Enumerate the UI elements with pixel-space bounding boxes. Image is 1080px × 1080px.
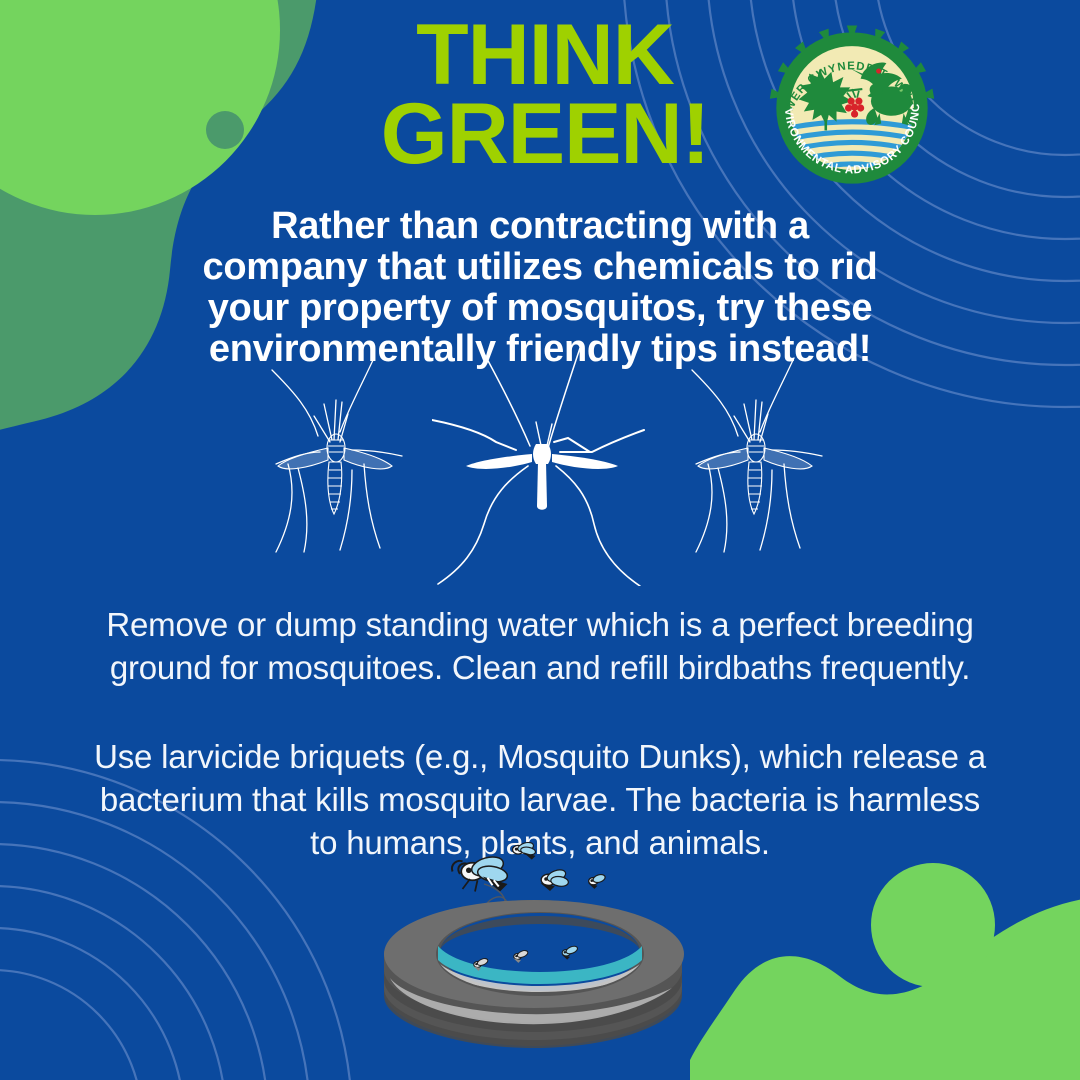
page-title: THINK GREEN! <box>330 16 760 174</box>
subtitle-line-1: Rather than contracting with a <box>60 206 1020 247</box>
bottom-right-green-circle <box>871 863 995 987</box>
poster-header: THINK GREEN! <box>0 0 1080 210</box>
tip2-line-1: Use larvicide briquets (e.g., Mosquito D… <box>40 736 1040 779</box>
tire-with-standing-water-illustration <box>372 842 692 1080</box>
tire-svg <box>372 842 692 1080</box>
tire-body <box>384 900 684 1048</box>
mosquito-illustration-row <box>0 352 1080 588</box>
subtitle-line-2: company that utilizes chemicals to rid <box>60 247 1020 288</box>
mosquito-line-art-right-icon <box>672 352 862 567</box>
tip1-line-1: Remove or dump standing water which is a… <box>40 604 1040 647</box>
subtitle-line-3: your property of mosquitos, try these <box>60 288 1020 329</box>
bottom-right-green-wave <box>690 895 1080 1080</box>
mosquito-line-art-left-icon <box>252 352 442 567</box>
logo-svg: LOWER GWYNEDD TOWNSHIP ENVIRONMENTAL ADV… <box>766 22 938 194</box>
tips-block: Remove or dump standing water which is a… <box>40 604 1040 864</box>
tip2-line-2: bacterium that kills mosquito larvae. Th… <box>40 779 1040 822</box>
township-eac-logo: LOWER GWYNEDD TOWNSHIP ENVIRONMENTAL ADV… <box>766 22 938 194</box>
tip-remove-standing-water: Remove or dump standing water which is a… <box>40 604 1040 690</box>
mosquito-silhouette-center-icon <box>432 346 672 586</box>
title-line-green: GREEN! <box>330 95 760 174</box>
tip1-line-2: ground for mosquitoes. Clean and refill … <box>40 647 1040 690</box>
title-line-think: THINK <box>330 16 760 95</box>
poster-canvas: THINK GREEN! <box>0 0 1080 1080</box>
